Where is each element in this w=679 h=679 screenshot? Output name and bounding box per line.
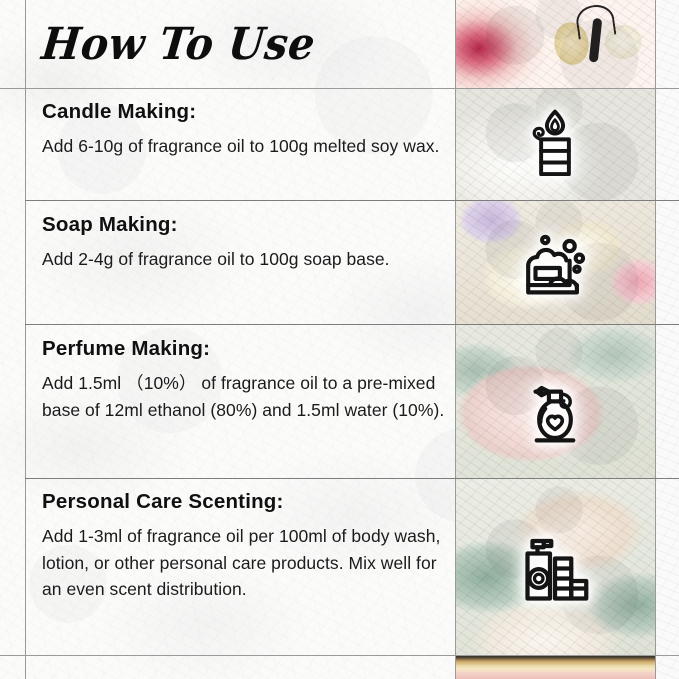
section-body: Add 2-4g of fragrance oil to 100g soap b…: [42, 246, 455, 273]
section-title: Soap Making:: [42, 213, 455, 237]
gold-frame-scene: [455, 655, 655, 679]
soap-bar-icon: [509, 222, 601, 314]
art-cell-roses-and-moth: [455, 0, 655, 88]
section-soap-making: Soap Making: Add 2-4g of fragrance oil t…: [25, 213, 455, 273]
sketch-overlay: [455, 0, 655, 88]
section-body: Add 1.5ml （10%） of fragrance oil to a pr…: [42, 370, 455, 423]
section-divider-1: [25, 200, 679, 201]
how-to-use-infographic: How To Use Candle Making: Add 6-10g of f…: [0, 0, 679, 679]
right-margin-strip: [655, 0, 679, 679]
art-cell-gold-frame: [455, 655, 655, 679]
candle-icon: [509, 98, 601, 190]
section-personal-care-scenting: Personal Care Scenting: Add 1-3ml of fra…: [25, 490, 455, 603]
header-divider: [0, 88, 679, 89]
section-title: Personal Care Scenting:: [42, 490, 455, 514]
section-title: Perfume Making:: [42, 337, 455, 361]
page-title: How To Use: [22, 18, 317, 70]
header: How To Use: [25, 0, 455, 88]
personal-care-products-icon: [509, 525, 601, 617]
section-body: Add 6-10g of fragrance oil to 100g melte…: [42, 133, 455, 160]
footer-divider: [0, 655, 679, 656]
floral-illustration-strip: [455, 0, 655, 679]
section-candle-making: Candle Making: Add 6-10g of fragrance oi…: [25, 100, 455, 160]
perfume-bottle-icon: [509, 370, 601, 462]
section-divider-3: [25, 478, 679, 479]
right-vertical-rule: [655, 0, 656, 679]
section-title: Candle Making:: [42, 100, 455, 124]
section-body: Add 1-3ml of fragrance oil per 100ml of …: [42, 523, 455, 603]
section-divider-2: [25, 324, 679, 325]
section-perfume-making: Perfume Making: Add 1.5ml （10%） of fragr…: [25, 337, 455, 423]
content-art-vertical-rule: [455, 0, 456, 679]
